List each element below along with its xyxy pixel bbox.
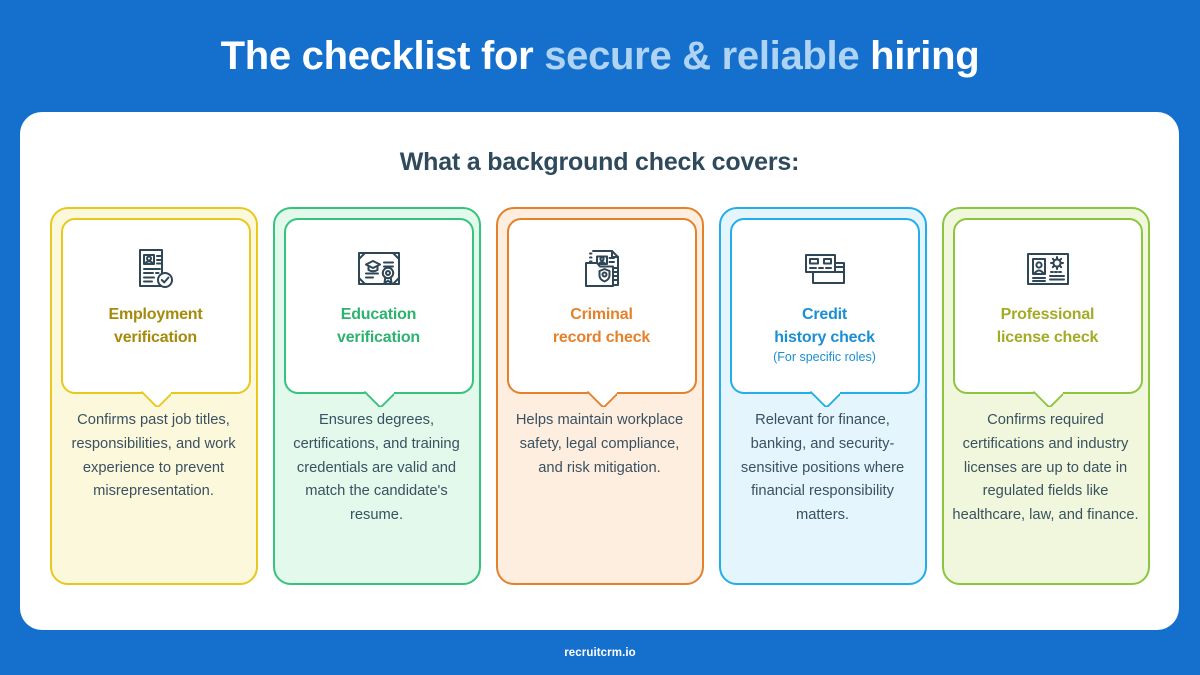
card-title: Education verification [331,304,426,349]
card-bubble: Employment verification [61,218,251,394]
page-footer: recruitcrm.io [0,630,1200,675]
brand-label: recruitcrm.io [564,647,636,659]
card-subtitle: (For specific roles) [773,350,876,365]
bubble-tail [810,391,840,407]
credit-cards-icon [798,246,852,292]
page-title-part1: The checklist for [221,34,545,78]
card-title: Criminal record check [547,304,656,349]
bubble-tail [364,391,394,407]
card-title-line2: license check [997,327,1098,350]
card-bubble: Credit history check (For specific roles… [730,218,920,394]
id-license-icon [1021,246,1075,292]
card-body: Confirms past job titles, responsibiliti… [52,409,256,504]
diploma-icon [352,246,406,292]
card-body: Relevant for finance, banking, and secur… [721,409,925,528]
card-title: Credit history check [768,304,881,349]
card-title-line2: record check [553,327,650,350]
card-professional-license-check[interactable]: Professional license check Confirms requ… [942,207,1150,585]
card-body: Helps maintain workplace safety, legal c… [498,409,702,480]
page-title-part2: hiring [859,34,979,78]
bubble-tail [587,391,617,407]
card-title-line1: Credit [774,304,875,327]
page-title: The checklist for secure & reliable hiri… [221,34,980,79]
page-header: The checklist for secure & reliable hiri… [0,0,1200,112]
card-bubble: Education verification [284,218,474,394]
card-bubble: Professional license check [953,218,1143,394]
card-bubble: Criminal record check [507,218,697,394]
card-body: Ensures degrees, certifications, and tra… [275,409,479,528]
card-credit-history-check[interactable]: Credit history check (For specific roles… [719,207,927,585]
card-body: Confirms required certifications and ind… [944,409,1148,528]
card-title: Professional license check [991,304,1104,349]
card-criminal-record-check[interactable]: Criminal record check Helps maintain wor… [496,207,704,585]
bubble-tail [141,391,171,407]
card-title-line2: history check [774,327,875,350]
panel-subtitle: What a background check covers: [20,148,1179,177]
checklist-cards: Employment verification Confirms past jo… [20,207,1179,585]
page-title-accent: secure & reliable [544,34,859,78]
bubble-tail [1033,391,1063,407]
card-title-line1: Professional [997,304,1098,327]
card-title-line1: Employment [108,304,202,327]
resume-check-icon [129,246,183,292]
card-education-verification[interactable]: Education verification Ensures degrees, … [273,207,481,585]
content-panel: What a background check covers: [20,112,1179,630]
card-title: Employment verification [102,304,208,349]
card-title-line1: Criminal [553,304,650,327]
criminal-file-badge-icon [575,246,629,292]
card-employment-verification[interactable]: Employment verification Confirms past jo… [50,207,258,585]
card-title-line2: verification [337,327,420,350]
card-title-line1: Education [337,304,420,327]
card-title-line2: verification [108,327,202,350]
